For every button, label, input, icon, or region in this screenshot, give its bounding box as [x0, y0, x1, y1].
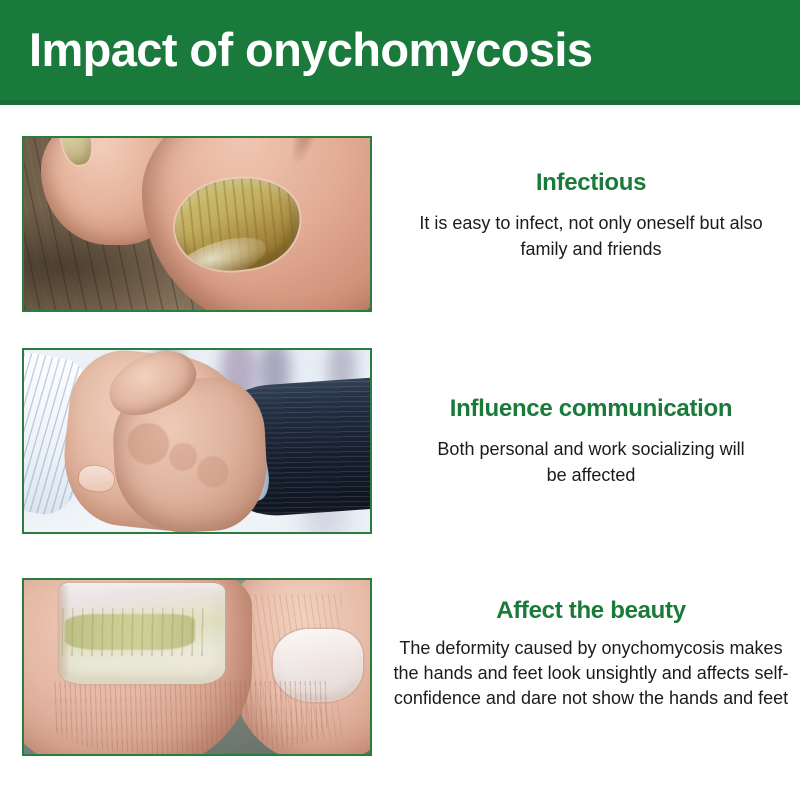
item-heading-influence-communication: Influence communication — [390, 394, 792, 424]
text-column-affect-the-beauty: Affect the beauty The deformity caused b… — [372, 578, 800, 711]
nail-ridges — [62, 608, 208, 656]
item-body-influence-communication: Both personal and work socializing will … — [390, 436, 792, 488]
photo-business-handshake — [22, 348, 372, 534]
header-underline — [0, 100, 800, 105]
toe-crease — [284, 138, 328, 169]
text-column-infectious: Infectious It is easy to infect, not onl… — [372, 136, 800, 262]
skin-texture — [52, 681, 329, 754]
content-row-influence-communication: Influence communication Both personal an… — [0, 348, 800, 534]
nail-edge-damage — [59, 585, 72, 678]
photo-canvas — [24, 138, 370, 310]
photo-discolored-toenail-closeup — [22, 578, 372, 756]
item-body-affect-the-beauty: The deformity caused by onychomycosis ma… — [390, 636, 792, 711]
content-row-infectious: Infectious It is easy to infect, not onl… — [0, 136, 800, 312]
item-heading-infectious: Infectious — [390, 168, 792, 198]
content-row-affect-the-beauty: Affect the beauty The deformity caused b… — [0, 578, 800, 756]
item-heading-affect-the-beauty: Affect the beauty — [390, 596, 792, 626]
discolored-big-toenail — [59, 583, 225, 684]
text-column-influence-communication: Influence communication Both personal an… — [372, 348, 800, 488]
photo-canvas — [24, 350, 370, 532]
second-toenail — [58, 138, 96, 168]
photo-infected-toenails-on-wood — [22, 136, 372, 312]
infected-big-toenail — [169, 171, 305, 279]
item-body-infectious: It is easy to infect, not only oneself b… — [390, 210, 792, 262]
knuckles — [121, 423, 246, 518]
page-title: Impact of onychomycosis — [29, 17, 592, 83]
photo-canvas — [24, 580, 370, 754]
